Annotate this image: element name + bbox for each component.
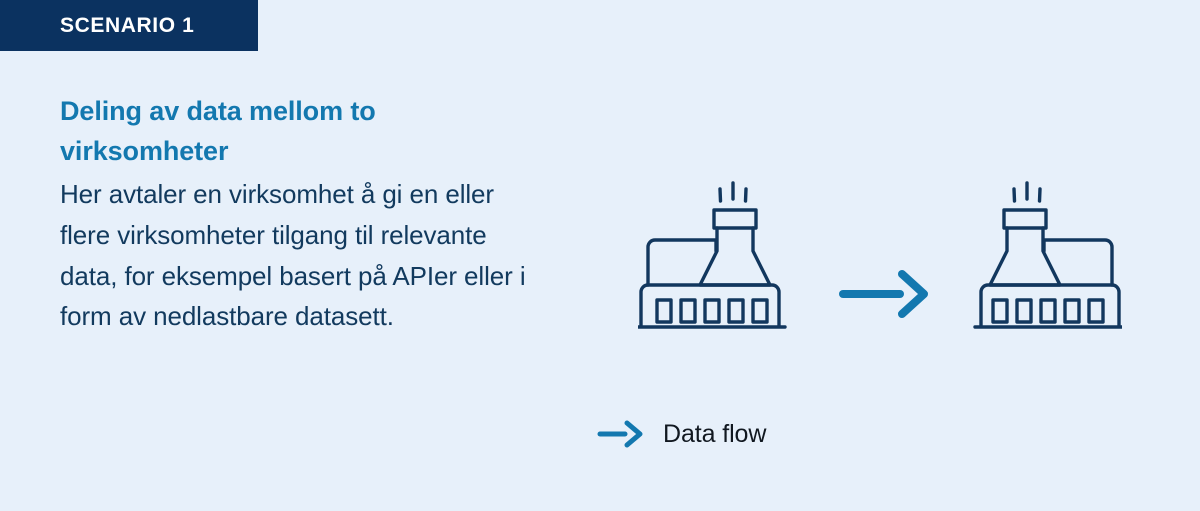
factory-icon: [638, 175, 788, 340]
arrow-right-icon: [597, 420, 645, 448]
factory-icon-mirrored: [972, 175, 1122, 340]
legend: Data flow: [597, 420, 766, 448]
factory-icon-source: [638, 175, 788, 340]
scenario-slide: SCENARIO 1 Deling av data mellom to virk…: [0, 0, 1200, 511]
legend-item-icon-wrapper: [597, 420, 645, 448]
arrow-right-icon: [838, 270, 934, 318]
scenario-badge-label: SCENARIO 1: [60, 15, 194, 36]
data-flow-connector: [838, 270, 934, 318]
legend-item-label: Data flow: [663, 422, 766, 447]
body-paragraph: Her avtaler en virksomhet å gi en eller …: [60, 174, 530, 337]
page-title: Deling av data mellom to virksomheter: [60, 92, 530, 172]
factory-icon-target: [972, 175, 1122, 340]
text-column: Deling av data mellom to virksomheter He…: [60, 92, 530, 337]
diagram-graphic: [620, 175, 1140, 340]
scenario-badge: SCENARIO 1: [0, 0, 258, 51]
